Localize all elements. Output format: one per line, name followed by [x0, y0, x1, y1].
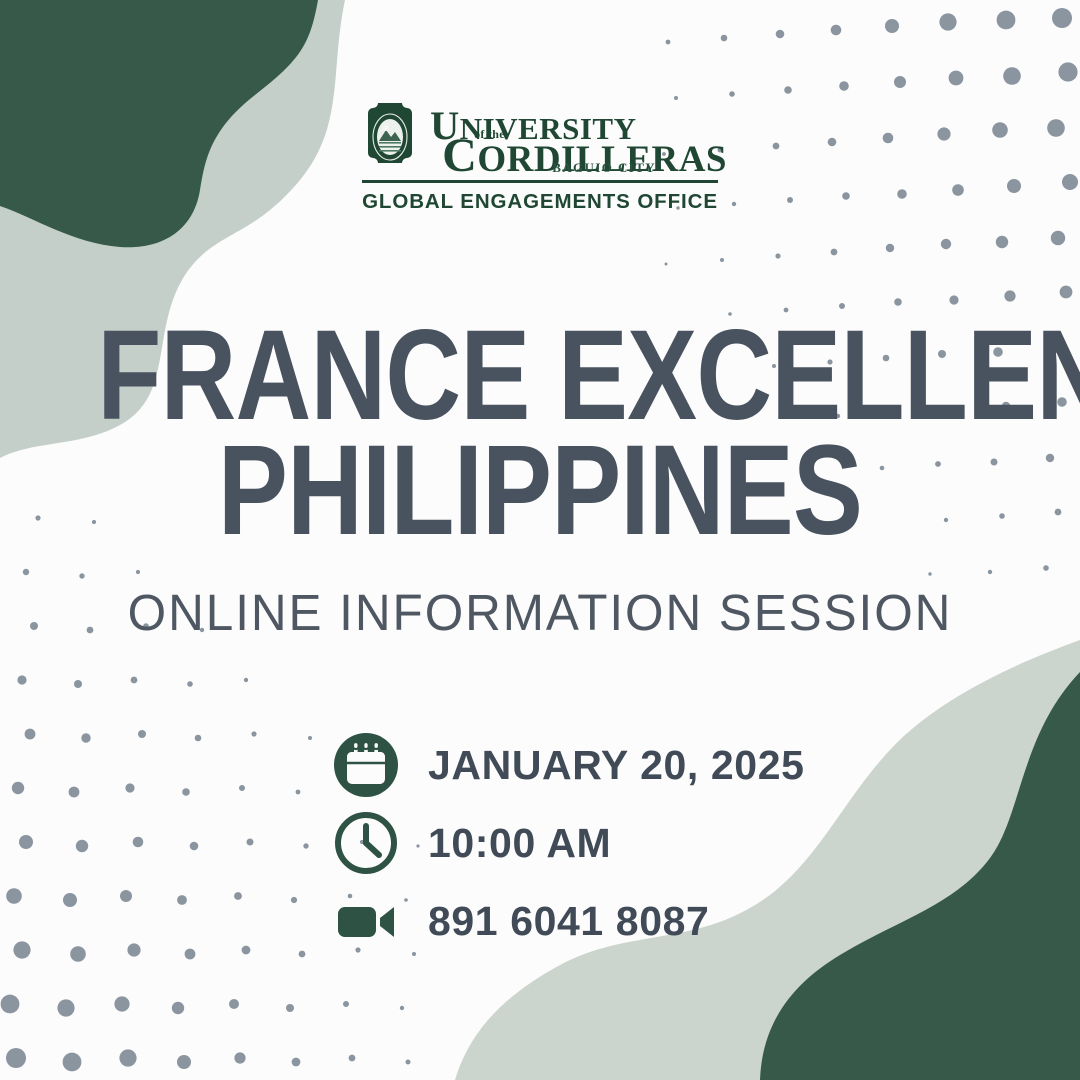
- detail-meeting-id-label: 891 6041 8087: [428, 898, 709, 945]
- headline-line-2: PHILIPPINES: [97, 433, 983, 548]
- video-camera-icon: [330, 885, 402, 957]
- wordmark-city: BAGUIO CITY: [552, 160, 656, 176]
- detail-time-label: 10:00 AM: [428, 820, 611, 867]
- detail-row-date: JANUARY 20, 2025: [330, 726, 950, 804]
- office-label: GLOBAL ENGAGEMENTS OFFICE: [362, 190, 718, 214]
- logo-lockup: UNIVERSITY of the CORDILLERAS BAGUIO CIT…: [362, 98, 718, 214]
- headline-line-1: FRANCE EXCELLENCE: [97, 318, 983, 433]
- page-subtitle: ONLINE INFORMATION SESSION: [16, 583, 1064, 642]
- event-details: JANUARY 20, 2025 10:00 AM 891 6041 8087: [330, 726, 950, 960]
- logo-block: UNIVERSITY of the CORDILLERAS BAGUIO CIT…: [0, 98, 1080, 214]
- logo-wordmark: UNIVERSITY of the CORDILLERAS BAGUIO CIT…: [430, 100, 658, 174]
- logo-row: UNIVERSITY of the CORDILLERAS BAGUIO CIT…: [362, 98, 718, 176]
- calendar-icon: [330, 729, 402, 801]
- page-title: FRANCE EXCELLENCE PHILIPPINES: [0, 318, 1080, 548]
- university-seal-icon: [362, 101, 418, 173]
- detail-date-label: JANUARY 20, 2025: [428, 742, 805, 789]
- detail-row-time: 10:00 AM: [330, 804, 950, 882]
- clock-icon: [330, 807, 402, 879]
- poster-canvas: UNIVERSITY of the CORDILLERAS BAGUIO CIT…: [0, 0, 1080, 1080]
- detail-row-meeting-id: 891 6041 8087: [330, 882, 950, 960]
